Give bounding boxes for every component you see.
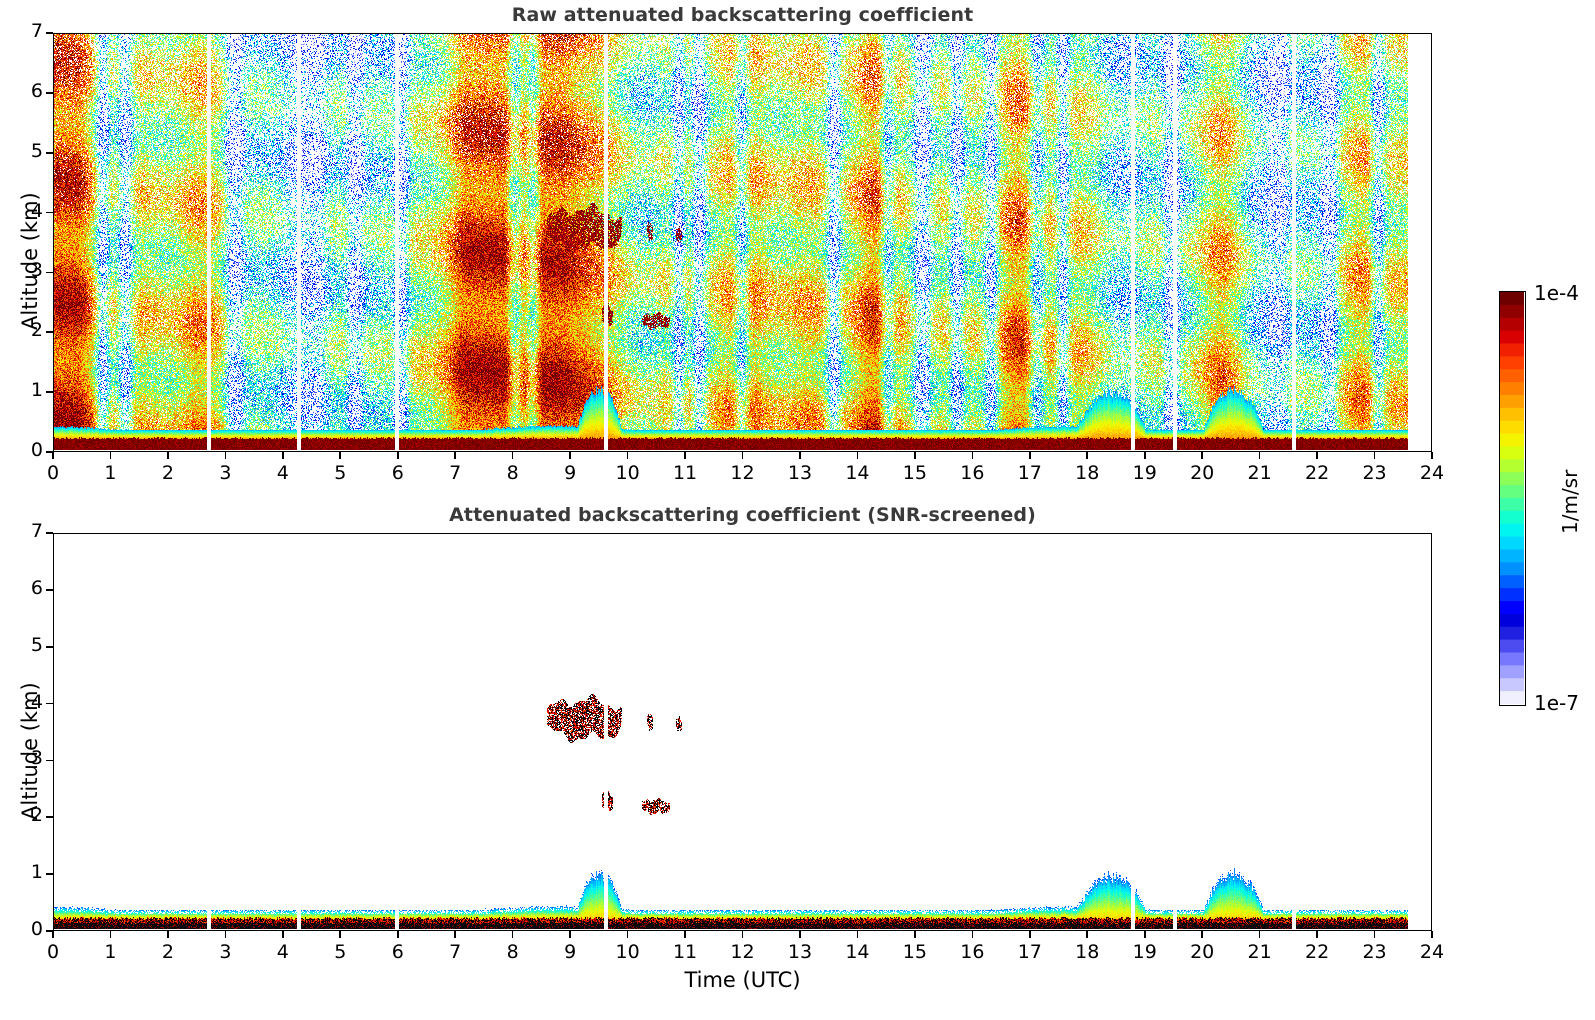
x-tick-label: 1 (85, 941, 135, 963)
y-tick (46, 212, 53, 214)
x-tick (1086, 931, 1088, 938)
x-tick (1201, 452, 1203, 459)
x-tick (857, 931, 859, 938)
y-tick-label: 2 (1, 804, 43, 826)
panel-title-raw: Raw attenuated backscattering coefficien… (53, 4, 1432, 26)
colorbar-min-label: 1e-7 (1534, 691, 1579, 715)
y-tick-label: 5 (1, 140, 43, 162)
x-tick (1316, 931, 1318, 938)
x-tick-label: 10 (603, 941, 653, 963)
y-tick (46, 272, 53, 274)
x-tick-label: 3 (200, 941, 250, 963)
y-tick (46, 331, 53, 333)
y-tick (46, 816, 53, 818)
x-tick (799, 452, 801, 459)
x-tick-label: 5 (315, 941, 365, 963)
y-tick (46, 451, 53, 453)
x-tick-label: 22 (1292, 941, 1342, 963)
y-tick (46, 873, 53, 875)
y-tick-label: 0 (1, 439, 43, 461)
x-tick (1374, 931, 1376, 938)
x-tick (857, 452, 859, 459)
x-tick-label: 7 (430, 462, 480, 484)
x-tick-label: 8 (488, 941, 538, 963)
x-tick (282, 452, 284, 459)
x-tick-label: 17 (1005, 941, 1055, 963)
x-tick (225, 931, 227, 938)
x-tick-label: 10 (603, 462, 653, 484)
panel-title-screened: Attenuated backscattering coefficient (S… (53, 504, 1432, 526)
x-tick-label: 4 (258, 941, 308, 963)
x-tick (627, 931, 629, 938)
x-tick-label: 0 (28, 462, 78, 484)
x-tick-label: 6 (373, 941, 423, 963)
y-tick-label: 3 (1, 259, 43, 281)
x-tick (569, 931, 571, 938)
x-tick (110, 452, 112, 459)
x-tick-label: 14 (832, 941, 882, 963)
x-tick (167, 931, 169, 938)
y-tick-label: 7 (1, 520, 43, 542)
x-axis-title: Time (UTC) (0, 968, 1485, 992)
x-tick-label: 7 (430, 941, 480, 963)
x-tick (684, 452, 686, 459)
x-tick-label: 4 (258, 462, 308, 484)
x-tick-label: 22 (1292, 462, 1342, 484)
x-tick-label: 3 (200, 462, 250, 484)
x-tick (1259, 931, 1261, 938)
y-tick (46, 760, 53, 762)
x-tick-label: 12 (718, 462, 768, 484)
y-tick-label: 6 (1, 577, 43, 599)
x-tick-label: 23 (1350, 941, 1400, 963)
y-tick-label: 3 (1, 747, 43, 769)
colorbar-max-label: 1e-4 (1534, 281, 1579, 305)
y-tick-label: 1 (1, 379, 43, 401)
x-tick-label: 2 (143, 462, 193, 484)
x-tick (914, 931, 916, 938)
x-tick (742, 931, 744, 938)
x-tick (512, 452, 514, 459)
x-tick-label: 16 (947, 941, 997, 963)
y-tick (46, 32, 53, 34)
y-tick (46, 532, 53, 534)
heatmap-raw[interactable] (53, 33, 1432, 452)
x-tick-label: 14 (832, 462, 882, 484)
y-tick (46, 930, 53, 932)
x-tick-label: 1 (85, 462, 135, 484)
x-tick-label: 24 (1407, 462, 1457, 484)
x-tick (52, 931, 54, 938)
x-tick-label: 16 (947, 462, 997, 484)
y-tick (46, 703, 53, 705)
x-tick-label: 15 (890, 462, 940, 484)
x-tick-label: 19 (1120, 941, 1170, 963)
x-tick-label: 24 (1407, 941, 1457, 963)
x-tick-label: 17 (1005, 462, 1055, 484)
x-tick (1029, 452, 1031, 459)
y-tick-label: 6 (1, 80, 43, 102)
y-tick (46, 152, 53, 154)
x-tick (1201, 931, 1203, 938)
x-tick-label: 23 (1350, 462, 1400, 484)
x-tick-label: 8 (488, 462, 538, 484)
x-tick (627, 452, 629, 459)
x-tick (799, 931, 801, 938)
y-tick-label: 7 (1, 20, 43, 42)
x-tick (972, 452, 974, 459)
x-tick-label: 21 (1235, 941, 1285, 963)
x-tick (167, 452, 169, 459)
colorbar (1499, 291, 1526, 706)
x-tick (397, 452, 399, 459)
y-tick-label: 5 (1, 634, 43, 656)
x-tick (110, 931, 112, 938)
x-tick-label: 13 (775, 462, 825, 484)
x-tick (1431, 931, 1433, 938)
x-tick (397, 931, 399, 938)
x-tick (1259, 452, 1261, 459)
x-tick (569, 452, 571, 459)
x-tick-label: 2 (143, 941, 193, 963)
x-tick-label: 20 (1177, 941, 1227, 963)
y-tick-label: 4 (1, 200, 43, 222)
x-tick-label: 11 (660, 462, 710, 484)
x-tick (1316, 452, 1318, 459)
x-tick (52, 452, 54, 459)
x-tick-label: 9 (545, 941, 595, 963)
heatmap-screened[interactable] (53, 533, 1432, 931)
x-tick (742, 452, 744, 459)
x-tick-label: 21 (1235, 462, 1285, 484)
y-tick-label: 4 (1, 691, 43, 713)
x-tick-label: 0 (28, 941, 78, 963)
y-tick-label: 0 (1, 918, 43, 940)
x-tick-label: 11 (660, 941, 710, 963)
x-tick (1029, 931, 1031, 938)
x-tick (454, 931, 456, 938)
x-tick (454, 452, 456, 459)
x-tick-label: 13 (775, 941, 825, 963)
x-tick (225, 452, 227, 459)
y-tick-label: 1 (1, 861, 43, 883)
x-tick (1431, 452, 1433, 459)
y-tick (46, 646, 53, 648)
x-tick (1144, 931, 1146, 938)
y-tick (46, 391, 53, 393)
x-tick-label: 15 (890, 941, 940, 963)
x-tick (339, 931, 341, 938)
x-tick-label: 5 (315, 462, 365, 484)
x-tick-label: 18 (1062, 941, 1112, 963)
x-tick-label: 12 (718, 941, 768, 963)
x-tick (972, 931, 974, 938)
y-tick (46, 92, 53, 94)
y-tick (46, 589, 53, 591)
x-tick (1374, 452, 1376, 459)
x-tick-label: 18 (1062, 462, 1112, 484)
x-tick (339, 452, 341, 459)
x-tick-label: 19 (1120, 462, 1170, 484)
x-tick (914, 452, 916, 459)
x-tick-label: 20 (1177, 462, 1227, 484)
x-tick (1144, 452, 1146, 459)
x-tick (512, 931, 514, 938)
colorbar-title: 1/m/sr (1558, 470, 1582, 534)
x-tick-label: 9 (545, 462, 595, 484)
x-tick (684, 931, 686, 938)
y-tick-label: 2 (1, 319, 43, 341)
lidar-backscatter-figure: Raw attenuated backscattering coefficien… (0, 0, 1595, 1020)
x-tick-label: 6 (373, 462, 423, 484)
x-tick (1086, 452, 1088, 459)
x-tick (282, 931, 284, 938)
